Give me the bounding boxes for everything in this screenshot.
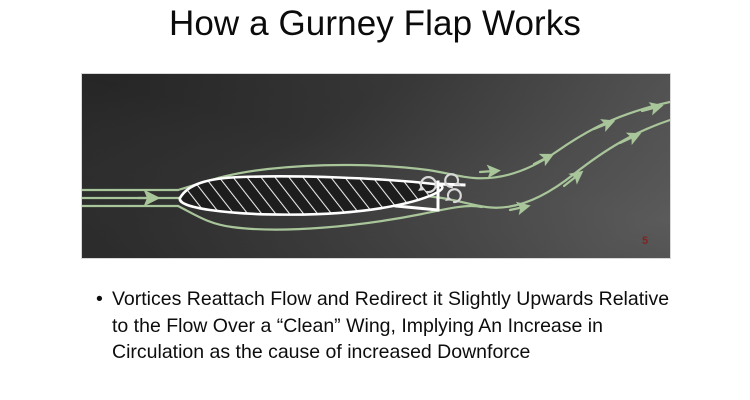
figure-watermark: 5 (642, 235, 648, 247)
upper-arrow-1 (480, 171, 494, 172)
gurney-flap-flow-diagram: 5 (82, 74, 670, 258)
body-content: • Vortices Reattach Flow and Redirect it… (96, 286, 676, 366)
list-item: • Vortices Reattach Flow and Redirect it… (96, 286, 676, 366)
slide-canvas: How a Gurney Flap Works (0, 0, 750, 400)
flow-diagram-svg: 5 (82, 74, 670, 258)
bullet-marker: • (96, 286, 103, 313)
page-title: How a Gurney Flap Works (0, 2, 750, 46)
bullet-text: Vortices Reattach Flow and Redirect it S… (112, 286, 676, 366)
